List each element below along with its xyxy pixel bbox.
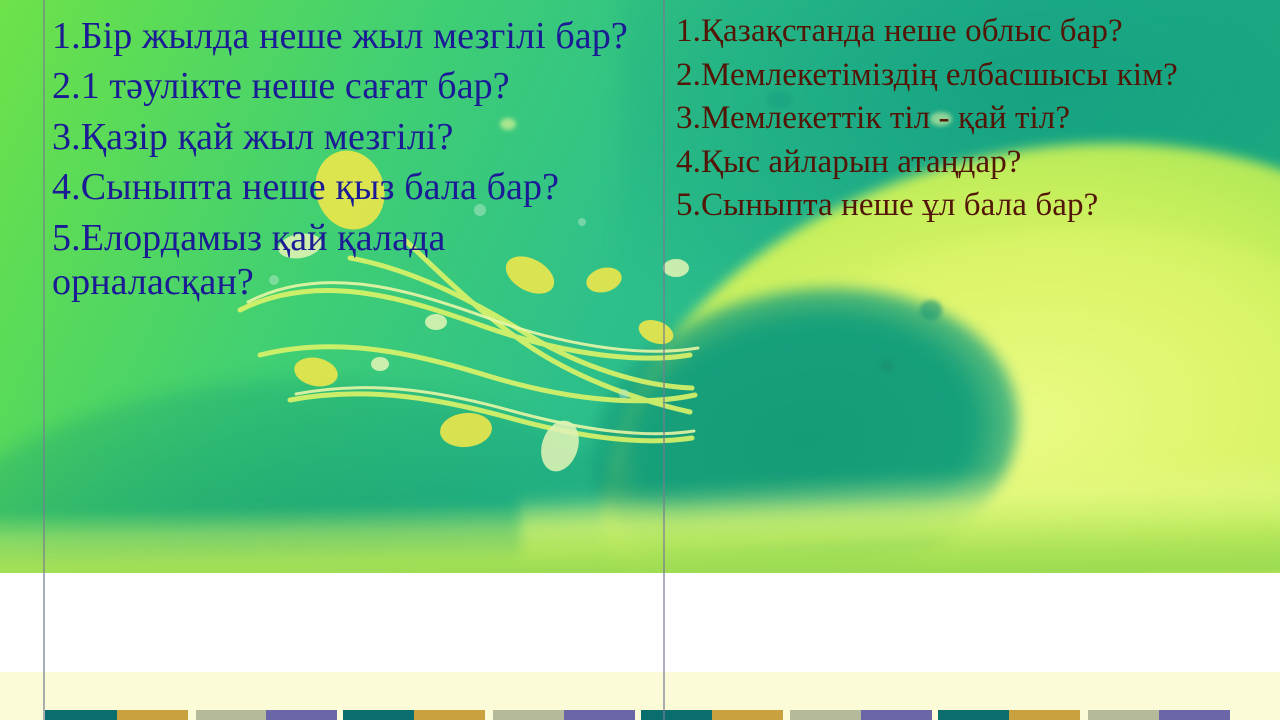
- footer-color-block: [117, 710, 188, 720]
- footer-color-block: [45, 710, 117, 720]
- footer-color-block: [564, 710, 635, 720]
- background-dot: [880, 360, 894, 372]
- footer-color-block: [493, 710, 564, 720]
- guide-line-left: [43, 0, 45, 720]
- question-right-3: 3.Мемлекеттік тіл - қай тіл?: [676, 99, 1256, 138]
- footer-color-block: [641, 710, 712, 720]
- footer-color-block: [1009, 710, 1080, 720]
- footer-color-block: [861, 710, 932, 720]
- background-dot: [920, 300, 942, 320]
- footer-color-blocks: [0, 710, 1280, 720]
- question-left-5: 5.Елордамыз қай қалада орналасқан?: [52, 216, 652, 305]
- left-question-column: 1.Бір жылда неше жыл мезгілі бар? 2.1 тә…: [52, 14, 652, 311]
- footer-color-block: [1159, 710, 1230, 720]
- question-left-1: 1.Бір жылда неше жыл мезгілі бар?: [52, 14, 652, 58]
- footer-color-block: [712, 710, 783, 720]
- slide-canvas: 1.Бір жылда неше жыл мезгілі бар? 2.1 тә…: [0, 0, 1280, 720]
- white-strip: [0, 573, 1280, 672]
- footer-color-block: [196, 710, 266, 720]
- question-right-4: 4.Қыс айларын атаңдар?: [676, 143, 1256, 182]
- footer-color-block: [938, 710, 1009, 720]
- footer-color-block: [1088, 710, 1159, 720]
- question-left-2: 2.1 тәулікте неше сағат бар?: [52, 64, 652, 108]
- question-left-4: 4.Сыныпта неше қыз бала бар?: [52, 165, 652, 209]
- footer-color-block: [343, 710, 414, 720]
- footer-color-block: [414, 710, 485, 720]
- guide-line-center: [663, 0, 665, 720]
- footer-color-block: [790, 710, 861, 720]
- footer-color-block: [266, 710, 337, 720]
- question-right-5: 5.Сыныпта неше ұл бала бар?: [676, 186, 1256, 225]
- right-question-column: 1.Қазақстанда неше облыс бар? 2.Мемлекет…: [676, 12, 1256, 230]
- question-right-2: 2.Мемлекетіміздің елбасшысы кім?: [676, 56, 1256, 95]
- question-left-3: 3.Қазір қай жыл мезгілі?: [52, 115, 652, 159]
- question-right-1: 1.Қазақстанда неше облыс бар?: [676, 12, 1256, 51]
